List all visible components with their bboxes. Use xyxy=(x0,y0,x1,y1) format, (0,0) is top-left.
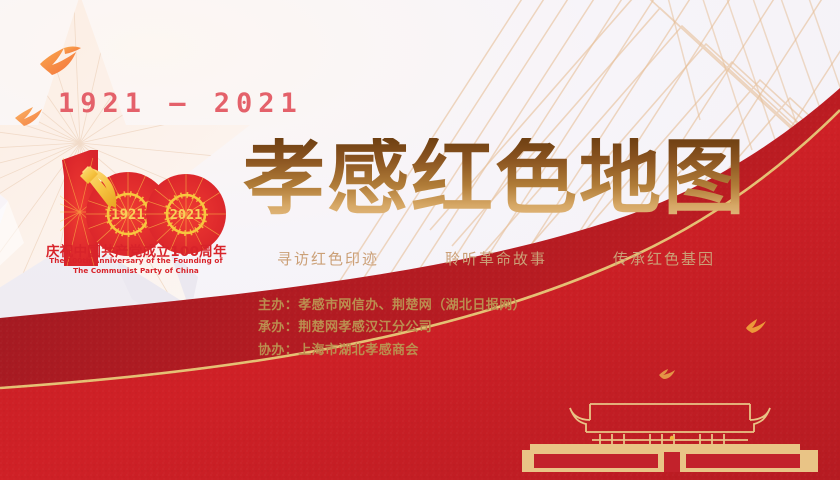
emblem-caption-en-line1: The 100th Anniversary of the Founding of xyxy=(40,256,232,266)
emblem-medallion-2021: 2021 xyxy=(170,207,203,223)
subtitle-item-3: 传承红色基因 xyxy=(613,248,715,269)
year-range-label: 1921 — 2021 xyxy=(58,88,303,119)
subtitle-row: 寻访红色印迹 聆听革命故事 传承红色基因 xyxy=(277,248,715,269)
subtitle-item-2: 聆听革命故事 xyxy=(445,248,547,269)
organizer-line-host: 主办：孝感市网信办、荆楚网（湖北日报网） xyxy=(258,295,526,317)
emblem-medallion-1921: 1921 xyxy=(111,207,145,223)
poster-canvas: 1921 — 2021 xyxy=(0,0,840,480)
emblem-caption-en-line2: The Communist Party of China xyxy=(40,266,232,276)
emblem-caption-en: The 100th Anniversary of the Founding of… xyxy=(40,256,232,277)
organizer-line-producer: 承办：荆楚网孝感汉江分公司 xyxy=(258,317,526,339)
page-title: 孝感红色地图 xyxy=(243,138,747,220)
subtitle-item-1: 寻访红色印迹 xyxy=(277,248,379,269)
tiananmen-gate-icon xyxy=(500,392,840,480)
swallow-icon xyxy=(14,104,44,128)
organizer-credits: 主办：孝感市网信办、荆楚网（湖北日报网） 承办：荆楚网孝感汉江分公司 协办：上海… xyxy=(258,295,526,362)
dove-icon xyxy=(745,318,767,334)
organizer-line-supporter: 协办：上海市湖北孝感商会 xyxy=(258,340,526,362)
dove-icon xyxy=(658,368,676,380)
swallow-icon xyxy=(38,44,82,78)
